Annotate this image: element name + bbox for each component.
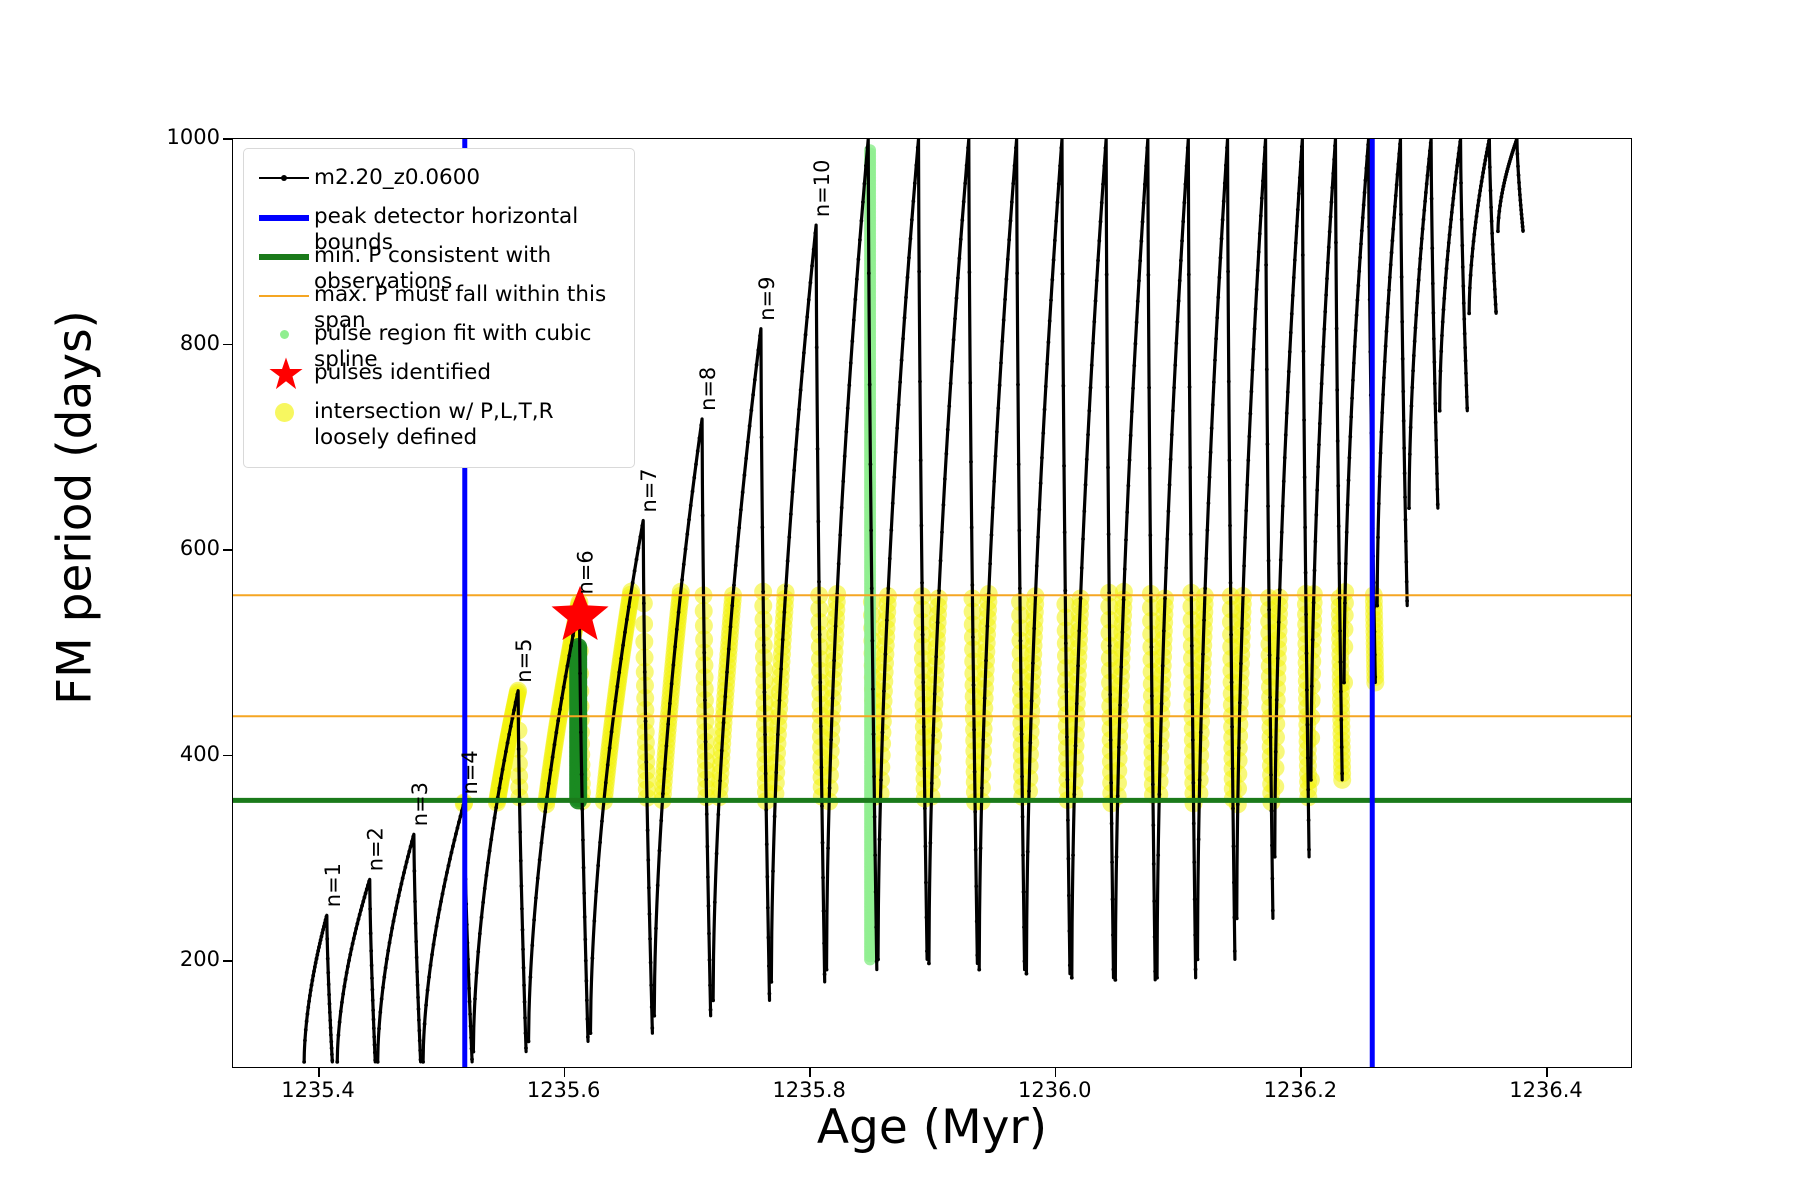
model-data-point: [406, 855, 410, 859]
model-data-point: [1109, 738, 1113, 742]
model-data-point: [1118, 703, 1122, 707]
model-data-point: [1105, 273, 1109, 277]
model-data-point: [876, 957, 880, 961]
legend-item-model[interactable]: m2.20_z0.0600: [256, 159, 622, 198]
model-data-point: [944, 452, 948, 456]
model-data-point: [1019, 639, 1023, 643]
model-data-point: [812, 247, 816, 251]
model-data-point: [310, 978, 314, 982]
model-data-point: [1245, 483, 1249, 487]
model-data-point: [781, 638, 785, 642]
model-data-point: [1061, 384, 1065, 388]
model-data-point: [962, 200, 966, 204]
model-data-point: [1363, 191, 1367, 195]
model-data-point: [1484, 154, 1488, 158]
model-data-point: [769, 980, 773, 984]
model-data-point: [305, 1019, 309, 1023]
model-data-point: [1150, 694, 1154, 698]
y-tick-mark: [223, 549, 232, 551]
model-data-point: [1404, 560, 1408, 564]
model-data-point: [897, 403, 901, 407]
model-data-point: [659, 819, 663, 823]
model-data-point: [1134, 342, 1138, 346]
model-data-point: [1230, 680, 1234, 684]
model-data-point: [1265, 368, 1269, 372]
model-data-point: [949, 381, 953, 385]
model-data-point: [755, 363, 759, 367]
model-data-point: [1353, 345, 1357, 349]
model-data-point: [369, 949, 373, 953]
model-data-point: [873, 815, 877, 819]
model-data-point: [1123, 567, 1127, 571]
model-curve-segment: [1115, 139, 1155, 980]
model-data-point: [1122, 598, 1126, 602]
model-data-point: [1229, 633, 1233, 637]
model-data-point: [329, 1040, 333, 1044]
model-data-point: [520, 907, 524, 911]
model-data-point: [784, 584, 788, 588]
model-data-point: [413, 900, 417, 904]
model-data-point: [823, 972, 827, 976]
model-data-point: [502, 758, 506, 762]
model-data-point: [1443, 286, 1447, 290]
model-data-point: [494, 806, 498, 810]
peak-label-n6: n=6: [573, 550, 597, 594]
model-data-point: [1028, 741, 1032, 745]
model-data-point: [320, 931, 324, 935]
model-data-point: [644, 760, 648, 764]
model-data-point: [1108, 644, 1112, 648]
model-data-point: [392, 919, 396, 923]
model-data-point: [1262, 162, 1266, 166]
model-data-point: [1339, 660, 1343, 664]
model-data-point: [370, 988, 374, 992]
model-data-point: [1210, 426, 1214, 430]
model-data-point: [1142, 201, 1146, 205]
model-data-point: [1041, 431, 1045, 435]
model-data-point: [1493, 287, 1497, 291]
yellow-dot-icon: [256, 393, 314, 432]
model-data-point: [1344, 562, 1348, 566]
model-data-point: [1156, 853, 1160, 857]
model-data-point: [1223, 181, 1227, 185]
model-data-point: [410, 840, 414, 844]
model-curve-segment: [1440, 139, 1468, 411]
model-data-point: [509, 724, 513, 728]
model-data-point: [1192, 860, 1196, 864]
legend-label-model: m2.20_z0.0600: [314, 159, 480, 191]
model-data-point: [1446, 249, 1450, 253]
model-data-point: [980, 786, 984, 790]
model-data-point: [1402, 419, 1406, 423]
model-data-point: [1517, 181, 1521, 185]
model-data-point: [312, 969, 316, 973]
peak-label-n10: n=10: [810, 160, 834, 217]
legend-item-spline[interactable]: pulse region fit with cubic spline: [256, 315, 622, 354]
model-data-point: [1191, 781, 1195, 785]
model-data-point: [1214, 337, 1218, 341]
model-data-point: [866, 146, 870, 150]
peak-label-n2: n=2: [364, 827, 388, 871]
model-data-point: [1014, 146, 1018, 150]
model-data-point: [1091, 341, 1095, 345]
model-data-point: [327, 982, 331, 986]
model-data-point: [661, 792, 665, 796]
model-data-point: [637, 546, 641, 550]
model-data-point: [649, 983, 653, 987]
model-data-point: [1108, 693, 1112, 697]
model-data-point: [417, 1029, 421, 1033]
model-data-point: [1216, 295, 1220, 299]
model-data-point: [1097, 239, 1101, 243]
model-data-point: [1149, 645, 1153, 649]
model-data-point: [1232, 881, 1236, 885]
legend-item-peak-bounds[interactable]: peak detector horizontal bounds: [256, 198, 622, 237]
model-data-point: [1155, 976, 1159, 980]
model-data-point: [649, 961, 653, 965]
model-data-point: [566, 664, 570, 668]
model-data-point: [1231, 767, 1235, 771]
model-data-point: [354, 927, 358, 931]
model-data-point: [1410, 404, 1414, 408]
model-data-point: [341, 992, 345, 996]
model-data-point: [1389, 263, 1393, 267]
model-data-point: [991, 506, 995, 510]
model-data-point: [1190, 693, 1194, 697]
model-data-point: [776, 733, 780, 737]
y-tick-label: 600: [70, 536, 220, 560]
model-data-point: [680, 578, 684, 582]
model-data-point: [1076, 664, 1080, 668]
model-data-point: [1192, 822, 1196, 826]
model-data-point: [1520, 217, 1524, 221]
model-data-point: [1520, 221, 1524, 225]
model-data-point: [414, 921, 418, 925]
model-data-point: [817, 580, 821, 584]
model-data-point: [1270, 877, 1274, 881]
model-data-point: [903, 316, 907, 320]
model-data-point: [847, 383, 851, 387]
model-data-point: [943, 477, 947, 481]
model-data-point: [321, 928, 325, 932]
model-data-point: [760, 525, 764, 529]
model-data-point: [1331, 172, 1335, 176]
model-data-point: [800, 369, 804, 373]
model-data-point: [338, 1020, 342, 1024]
peak-label-n9: n=9: [755, 277, 779, 321]
model-data-point: [1500, 191, 1504, 195]
model-data-point: [1472, 233, 1476, 237]
model-data-point: [1208, 475, 1212, 479]
model-data-point: [1284, 433, 1288, 437]
model-data-point: [592, 919, 596, 923]
model-data-point: [1268, 695, 1272, 699]
model-data-point: [325, 937, 329, 941]
model-data-point: [1327, 245, 1331, 249]
model-data-point: [689, 503, 693, 507]
model-data-point: [1480, 175, 1484, 179]
model-data-point: [867, 271, 871, 275]
model-data-point: [1444, 276, 1448, 280]
model-data-point: [1212, 380, 1216, 384]
model-data-point: [1435, 455, 1439, 459]
model-data-point: [994, 454, 998, 458]
model-data-point: [1089, 386, 1093, 390]
model-data-point: [727, 647, 731, 651]
model-data-point: [372, 1035, 376, 1039]
model-data-point: [1104, 146, 1108, 150]
model-data-point: [524, 1031, 528, 1035]
model-data-point: [1350, 396, 1354, 400]
model-data-point: [1285, 411, 1289, 415]
model-data-point: [999, 361, 1003, 365]
model-data-point: [579, 730, 583, 734]
model-data-point: [1451, 203, 1455, 207]
model-data-point: [1180, 239, 1184, 243]
model-data-point: [306, 1012, 310, 1016]
model-data-point: [322, 924, 326, 928]
model-data-point: [1496, 229, 1500, 233]
model-data-point: [940, 530, 944, 534]
model-data-point: [444, 877, 448, 881]
model-data-point: [1254, 307, 1258, 311]
model-data-point: [1330, 200, 1334, 204]
model-data-point: [1067, 894, 1071, 898]
model-data-point: [1085, 457, 1089, 461]
model-data-point: [767, 992, 771, 996]
model-data-point: [1164, 566, 1168, 570]
model-data-point: [739, 508, 743, 512]
model-data-point: [884, 652, 888, 656]
model-data-point: [369, 931, 373, 935]
model-data-point: [430, 953, 434, 957]
model-data-point: [380, 997, 384, 1001]
model-data-point: [1414, 313, 1418, 317]
model-data-point: [1189, 591, 1193, 595]
model-data-point: [1301, 253, 1305, 257]
model-data-point: [625, 618, 629, 622]
model-data-point: [1391, 239, 1395, 243]
model-data-point: [849, 361, 853, 365]
model-data-point: [1255, 288, 1259, 292]
model-data-point: [1489, 189, 1493, 193]
model-data-point: [774, 771, 778, 775]
model-data-point: [998, 383, 1002, 387]
model-data-point: [981, 738, 985, 742]
model-data-point: [646, 858, 650, 862]
model-data-point: [1348, 435, 1352, 439]
model-data-point: [399, 882, 403, 886]
model-data-point: [1261, 179, 1265, 183]
model-data-point: [820, 765, 824, 769]
model-data-point: [1464, 383, 1468, 387]
model-data-point: [1204, 557, 1208, 561]
legend-item-intersection[interactable]: intersection w/ P,L,T,R loosely defined: [256, 393, 622, 455]
model-data-point: [1020, 732, 1024, 736]
model-data-point: [1459, 181, 1463, 185]
model-data-point: [459, 814, 463, 818]
model-data-point: [1191, 738, 1195, 742]
model-data-point: [652, 1014, 656, 1018]
model-data-point: [952, 338, 956, 342]
model-data-point: [1077, 629, 1081, 633]
model-data-point: [732, 583, 736, 587]
model-data-point: [1252, 347, 1256, 351]
model-data-point: [1242, 564, 1246, 568]
model-data-point: [1434, 420, 1438, 424]
model-data-point: [971, 635, 975, 639]
model-data-point: [1281, 504, 1285, 508]
model-data-point: [1184, 182, 1188, 186]
model-data-point: [372, 1018, 376, 1022]
model-data-point: [1423, 199, 1427, 203]
model-data-point: [1124, 538, 1128, 542]
model-data-point: [1454, 176, 1458, 180]
model-data-point: [1151, 783, 1155, 787]
model-data-point: [1143, 182, 1147, 186]
model-data-point: [1328, 230, 1332, 234]
model-data-point: [985, 624, 989, 628]
model-data-point: [1205, 528, 1209, 532]
model-data-point: [314, 961, 318, 965]
model-data-point: [921, 680, 925, 684]
model-data-point: [1109, 781, 1113, 785]
model-data-point: [1390, 251, 1394, 255]
model-data-point: [1403, 471, 1407, 475]
model-data-point: [1481, 171, 1485, 175]
model-data-point: [1165, 537, 1169, 541]
model-data-point: [749, 408, 753, 412]
model-curve-segment: [1026, 139, 1070, 974]
model-data-point: [617, 671, 621, 675]
model-data-point: [1274, 750, 1278, 754]
y-tick-label: 800: [70, 331, 220, 355]
model-data-point: [558, 707, 562, 711]
model-data-point: [644, 719, 648, 723]
model-data-point: [438, 907, 442, 911]
model-data-point: [1082, 509, 1086, 513]
model-data-point: [1266, 504, 1270, 508]
model-data-point: [1297, 192, 1301, 196]
model-data-point: [974, 848, 978, 852]
model-data-point: [1116, 794, 1120, 798]
model-data-point: [1435, 472, 1439, 476]
model-data-point: [1404, 518, 1408, 522]
model-data-point: [933, 692, 937, 696]
model-data-point: [448, 857, 452, 861]
model-data-point: [1197, 837, 1201, 841]
model-data-point: [1409, 426, 1413, 430]
model-data-point: [656, 883, 660, 887]
model-data-point: [534, 896, 538, 900]
model-data-point: [1442, 296, 1446, 300]
y-tick-mark: [223, 344, 232, 346]
model-data-point: [499, 777, 503, 781]
model-data-point: [1129, 433, 1133, 437]
model-data-point: [1467, 311, 1471, 315]
model-data-point: [337, 1033, 341, 1037]
model-data-point: [396, 900, 400, 904]
model-data-point: [1299, 160, 1303, 164]
model-data-point: [828, 786, 832, 790]
model-data-point: [1229, 581, 1233, 585]
model-data-point: [1057, 182, 1061, 186]
model-data-point: [906, 275, 910, 279]
model-data-point: [685, 532, 689, 536]
model-data-point: [1305, 723, 1309, 727]
model-data-point: [1130, 410, 1134, 414]
legend-item-max-p[interactable]: max. P must fall within this span: [256, 276, 622, 315]
model-data-point: [498, 786, 502, 790]
model-data-point: [795, 427, 799, 431]
model-data-point: [1043, 408, 1047, 412]
model-data-point: [766, 936, 770, 940]
model-data-point: [826, 846, 830, 850]
model-data-point: [501, 767, 505, 771]
model-data-point: [315, 957, 319, 961]
model-data-point: [744, 456, 748, 460]
legend-item-min-p[interactable]: min. P consistent with observations: [256, 237, 622, 276]
model-data-point: [1227, 380, 1231, 384]
model-data-point: [623, 630, 627, 634]
model-data-point: [610, 730, 614, 734]
model-data-point: [904, 295, 908, 299]
model-data-point: [1490, 219, 1494, 223]
model-data-point: [454, 832, 458, 836]
model-data-point: [330, 1052, 334, 1056]
model-data-point: [1305, 651, 1309, 655]
model-data-point: [1171, 409, 1175, 413]
model-data-point: [1032, 627, 1036, 631]
model-data-point: [1429, 141, 1433, 145]
model-data-point: [1319, 401, 1323, 405]
model-data-point: [984, 659, 988, 663]
model-data-point: [1326, 261, 1330, 265]
model-data-point: [1330, 186, 1334, 190]
model-data-point: [363, 895, 367, 899]
model-data-point: [351, 942, 355, 946]
model-data-point: [415, 970, 419, 974]
model-data-point: [1340, 745, 1344, 749]
model-data-point: [1359, 242, 1363, 246]
model-data-point: [1269, 773, 1273, 777]
model-data-point: [698, 436, 702, 440]
model-data-point: [401, 876, 405, 880]
model-data-point: [673, 645, 677, 649]
model-data-point: [432, 943, 436, 947]
model-data-point: [1128, 458, 1132, 462]
model-data-point: [377, 1027, 381, 1031]
model-data-point: [580, 772, 584, 776]
model-data-point: [304, 1028, 308, 1032]
model-data-point: [1163, 597, 1167, 601]
model-data-point: [1375, 604, 1379, 608]
model-data-point: [1079, 597, 1083, 601]
model-data-point: [347, 958, 351, 962]
model-data-point: [581, 838, 585, 842]
model-data-point: [583, 937, 587, 941]
peak-label-n4: n=4: [458, 750, 482, 794]
model-data-point: [1478, 194, 1482, 198]
model-data-point: [1176, 320, 1180, 324]
model-data-point: [1058, 164, 1062, 168]
model-data-point: [852, 318, 856, 322]
model-data-point: [765, 842, 769, 846]
model-data-point: [433, 933, 437, 937]
model-data-point: [1002, 318, 1006, 322]
model-data-point: [547, 782, 551, 786]
model-data-point: [1304, 612, 1308, 616]
